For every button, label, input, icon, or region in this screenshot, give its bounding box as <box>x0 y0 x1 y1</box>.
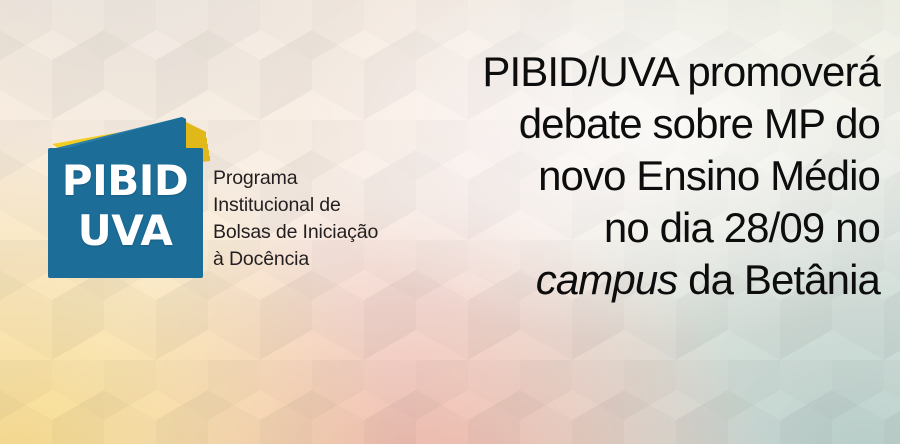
headline-emphasis-campus: campus <box>536 256 678 303</box>
headline-line-3: novo Ensino Médio <box>360 150 880 202</box>
headline-line-1: PIBID/UVA promoverá <box>360 46 880 98</box>
headline-line-2: debate sobre MP do <box>360 98 880 150</box>
headline-line-4: no dia 28/09 no <box>360 202 880 254</box>
headline: PIBID/UVA promoverá debate sobre MP do n… <box>360 46 880 306</box>
logo-text-uva: UVA <box>46 210 204 252</box>
event-announcement-banner: PIBID UVA Programa Institucional de Bols… <box>0 0 900 444</box>
logo-text-pibid: PIBID <box>46 160 204 202</box>
pibid-uva-logo: PIBID UVA <box>46 104 218 286</box>
headline-line-5: campus da Betânia <box>360 254 880 306</box>
headline-line-5-rest: da Betânia <box>677 256 880 303</box>
